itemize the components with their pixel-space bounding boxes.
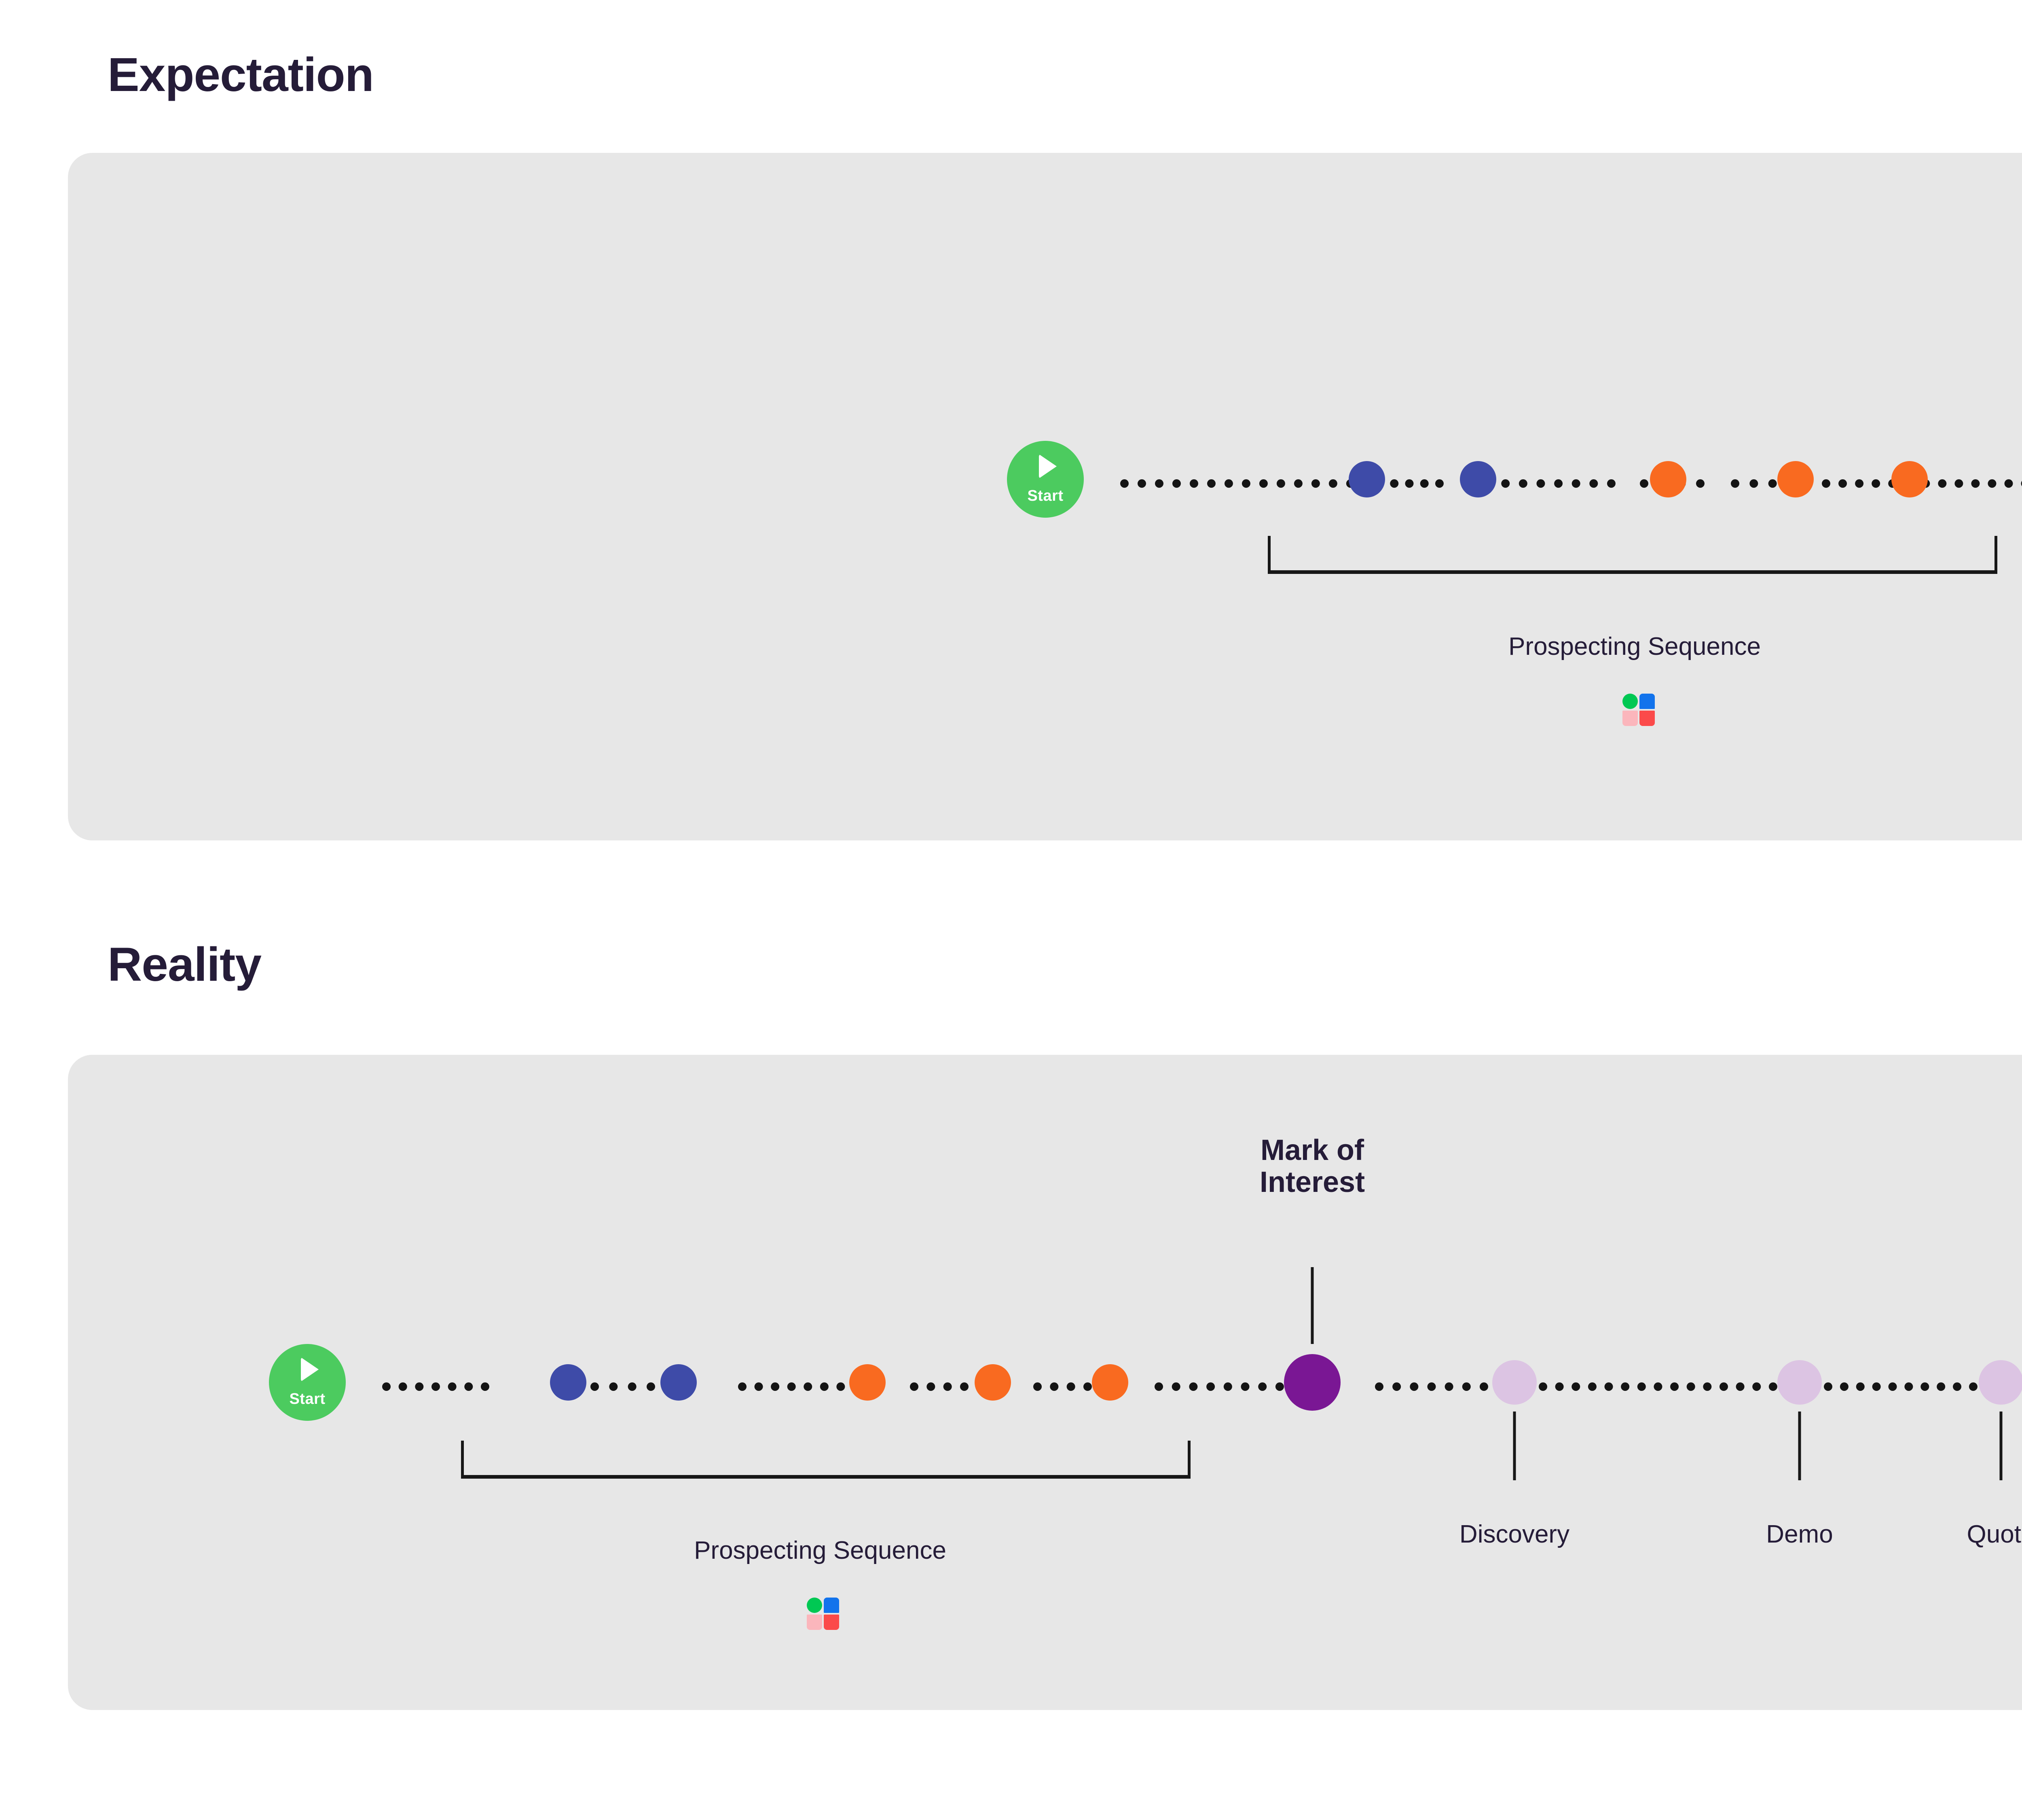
reality-prospect-node-3[interactable] xyxy=(849,1364,886,1401)
start-node-label: Start xyxy=(289,1390,325,1408)
expectation-prospect-node-4[interactable] xyxy=(1777,461,1814,497)
r-rail-start-to-blue1 xyxy=(382,1382,489,1391)
mark-of-interest-label-line2: Interest xyxy=(1260,1166,1365,1198)
expectation-prospect-node-1[interactable] xyxy=(1349,461,1385,497)
diagram-canvas: Expectation Start Prospecting Sequence xyxy=(0,0,2022,1820)
stage-leader-quote xyxy=(2000,1412,2003,1480)
r-rail-orange3-to-mark xyxy=(1155,1382,1284,1391)
brand-red-square xyxy=(824,1615,839,1630)
r-rail-orange2-to-orange3 xyxy=(1033,1382,1092,1391)
brand-blue-square xyxy=(1639,694,1655,709)
r-rail-orange1-to-orange2 xyxy=(910,1382,969,1391)
expectation-bracket-label: Prospecting Sequence xyxy=(1508,633,1761,660)
reality-prospect-node-2[interactable] xyxy=(660,1364,697,1401)
brand-green-circle xyxy=(1622,694,1638,709)
rail-blue1-to-blue2 xyxy=(1375,479,1444,488)
reality-prospect-node-5[interactable] xyxy=(1092,1364,1128,1401)
expectation-prospect-node-3[interactable] xyxy=(1650,461,1686,497)
mark-of-interest-leader-line xyxy=(1311,1267,1314,1344)
four-square-brand-icon xyxy=(1622,694,1655,726)
r-rail-demo-to-quote xyxy=(1824,1382,1978,1391)
stage-label-quote: Quote xyxy=(1967,1521,2022,1548)
expectation-prospect-node-5[interactable] xyxy=(1891,461,1928,497)
rail-start-to-blue1 xyxy=(1120,479,1355,488)
expectation-start-node[interactable]: Start xyxy=(1007,441,1084,518)
stage-node-discovery[interactable] xyxy=(1492,1360,1537,1405)
r-rail-blue1-to-blue2 xyxy=(590,1382,655,1391)
brand-green-circle xyxy=(807,1598,822,1613)
reality-prospect-node-1[interactable] xyxy=(550,1364,586,1401)
four-square-brand-icon xyxy=(807,1598,839,1630)
stage-node-quote[interactable] xyxy=(1979,1360,2022,1405)
r-rail-discovery-to-demo xyxy=(1539,1382,1777,1391)
brand-pink-square xyxy=(807,1615,822,1630)
stage-leader-demo xyxy=(1798,1412,1801,1480)
stage-leader-discovery xyxy=(1513,1412,1516,1480)
section-title-reality: Reality xyxy=(108,941,261,988)
brand-pink-square xyxy=(1622,711,1638,726)
mark-of-interest-node[interactable] xyxy=(1284,1354,1341,1411)
brand-blue-square xyxy=(824,1598,839,1613)
mark-of-interest-label: Mark of Interest xyxy=(1260,1134,1365,1198)
mark-of-interest-label-line1: Mark of xyxy=(1260,1134,1365,1166)
start-node-label: Start xyxy=(1027,487,1063,505)
section-title-expectation: Expectation xyxy=(108,51,374,99)
reality-prospect-node-4[interactable] xyxy=(975,1364,1011,1401)
reality-start-node[interactable]: Start xyxy=(269,1344,346,1421)
brand-red-square xyxy=(1639,711,1655,726)
stage-label-discovery: Discovery xyxy=(1459,1521,1569,1548)
stage-label-demo: Demo xyxy=(1766,1521,1833,1548)
expectation-prospect-node-2[interactable] xyxy=(1460,461,1496,497)
reality-bracket-label: Prospecting Sequence xyxy=(694,1537,946,1564)
play-icon xyxy=(1039,454,1057,478)
r-rail-mark-to-discovery xyxy=(1375,1382,1488,1391)
expectation-prospecting-bracket xyxy=(1268,536,1997,574)
reality-prospecting-bracket xyxy=(461,1441,1191,1479)
play-icon xyxy=(301,1357,319,1382)
r-rail-blue2-to-orange1 xyxy=(738,1382,861,1391)
stage-node-demo[interactable] xyxy=(1777,1360,1822,1405)
